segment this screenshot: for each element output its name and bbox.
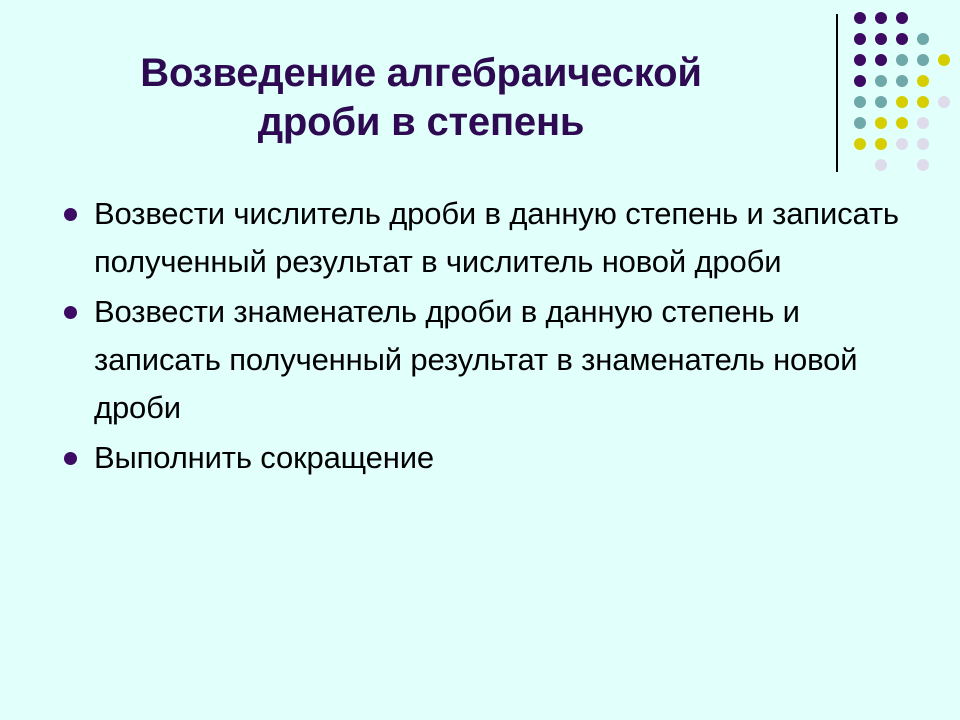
- list-item-text: Возвести знаменатель дроби в данную степ…: [94, 288, 916, 432]
- decorative-dot-grid: [830, 0, 960, 185]
- decorative-dot: [854, 75, 866, 87]
- list-item: Возвести числитель дроби в данную степен…: [56, 190, 916, 286]
- decorative-dot: [938, 96, 950, 108]
- list-item-text: Возвести числитель дроби в данную степен…: [94, 190, 916, 286]
- page-title-line-2: дроби в степень: [26, 98, 816, 147]
- decorative-dot: [875, 75, 887, 87]
- decorative-dot: [917, 138, 929, 150]
- bullet-dot-icon: [64, 208, 77, 221]
- bullet-dot-icon: [64, 306, 77, 319]
- decorative-dot: [875, 117, 887, 129]
- decorative-dot: [896, 54, 908, 66]
- decorative-dot: [875, 54, 887, 66]
- page-title-line-1: Возведение алгебраической: [26, 49, 816, 98]
- decorative-dot: [854, 12, 866, 24]
- decorative-dot: [854, 54, 866, 66]
- decorative-dot: [917, 96, 929, 108]
- list-item: Возвести знаменатель дроби в данную степ…: [56, 288, 916, 432]
- decorative-dot: [875, 159, 887, 171]
- decorative-dot: [875, 96, 887, 108]
- decorative-dot: [917, 33, 929, 45]
- decorative-dot: [917, 75, 929, 87]
- decorative-dot: [854, 96, 866, 108]
- decorative-dot: [875, 12, 887, 24]
- decorative-dot: [938, 54, 950, 66]
- decorative-dot: [854, 138, 866, 150]
- decorative-dot: [917, 54, 929, 66]
- decorative-dot: [875, 138, 887, 150]
- decorative-dot: [854, 117, 866, 129]
- bullet-list: Возвести числитель дроби в данную степен…: [56, 190, 916, 484]
- list-item: Выполнить сокращение: [56, 434, 916, 482]
- decorative-dot: [896, 117, 908, 129]
- decorative-dot: [896, 75, 908, 87]
- slide-canvas: Возведение алгебраической дроби в степен…: [0, 0, 960, 720]
- vertical-divider-line: [836, 14, 838, 172]
- page-title: Возведение алгебраической дроби в степен…: [26, 49, 816, 147]
- decorative-dot: [917, 159, 929, 171]
- list-item-text: Выполнить сокращение: [94, 434, 916, 482]
- decorative-dot: [896, 33, 908, 45]
- decorative-dot: [854, 33, 866, 45]
- decorative-dot: [896, 12, 908, 24]
- decorative-dot: [896, 138, 908, 150]
- decorative-dot: [917, 117, 929, 129]
- decorative-dot: [896, 96, 908, 108]
- bullet-dot-icon: [64, 452, 77, 465]
- decorative-dot: [875, 33, 887, 45]
